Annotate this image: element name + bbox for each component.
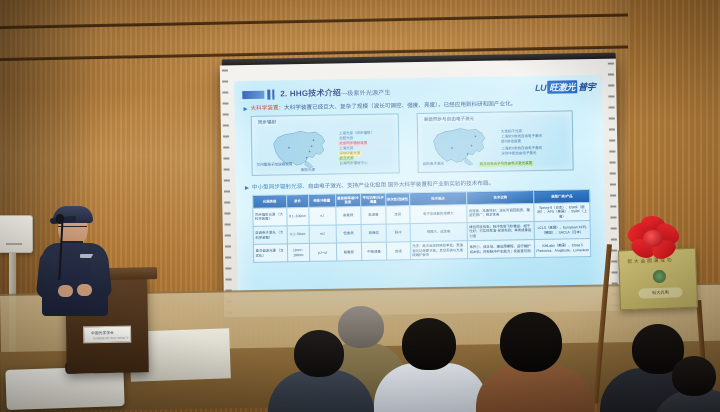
plaque-name-text: 科大光电 bbox=[638, 287, 682, 299]
map-card-synchrotron: 同步辐射 上海光源（同步辐射） 合肥光源 北京同步辐射装置 上海光源 深圳 bbox=[251, 113, 400, 176]
r1c0: 自由电子激光 （大科学装置） bbox=[253, 226, 287, 245]
slide-title-number: 2. bbox=[280, 89, 287, 98]
r0c7: 亮度高、准直性好；波长可调范围宽、覆盖范围广；稳定性高 bbox=[467, 203, 535, 222]
th-2: 单脉冲能量 bbox=[308, 194, 335, 207]
bullet-lead-1: 大科学装置： bbox=[251, 105, 285, 112]
map1-footnote-bottom: 高能光源 bbox=[301, 168, 315, 173]
r1c2: mJ bbox=[309, 225, 336, 244]
wall-mounted-unit bbox=[0, 215, 33, 253]
speaker-arm-right bbox=[90, 251, 113, 299]
ribbon-center bbox=[643, 230, 663, 247]
map1-label-6: 台湾同步辐射中心 bbox=[339, 161, 369, 167]
r0c0: 同步辐射光源 （大科学装置） bbox=[253, 208, 287, 227]
r0c2: nJ bbox=[308, 207, 335, 226]
audience-member-long-hair bbox=[480, 312, 586, 412]
audience-member-front-left bbox=[272, 330, 368, 412]
slide-title-main: HHG技术介绍 bbox=[290, 88, 341, 98]
r2c5: 连续 bbox=[386, 242, 410, 261]
th-5: 单次性/连续性 bbox=[386, 193, 410, 206]
bullet-item-2: 中小型同步辐射光源、自由电子激光、支持产业化投用 国外大科学装置和产业新实验的技… bbox=[245, 180, 494, 192]
slide-title-row: 2. HHG技术介绍—极紫外光源产生 bbox=[242, 86, 390, 100]
th-3: 重复频率/脉冲宽度 bbox=[335, 194, 360, 207]
map1-footnote-left: 兰州重离子加速器装置 bbox=[257, 162, 293, 168]
r0c3: 高重频 bbox=[335, 206, 361, 225]
th-8: 典型厂商/产品 bbox=[534, 190, 590, 204]
red-ribbon-flower bbox=[625, 214, 683, 266]
r2c3: 高重频 bbox=[336, 243, 362, 262]
r2c2: pJ~nJ bbox=[309, 243, 336, 262]
r2c4: 中等通量 bbox=[361, 242, 387, 261]
r0c5: 连续 bbox=[386, 205, 410, 224]
th-1: 波长 bbox=[286, 194, 308, 207]
microphone-head bbox=[56, 214, 64, 224]
map-card-title-1: 同步辐射 bbox=[257, 119, 277, 125]
map2-label-5: 武汉光谷光子号自由电子激光装置 bbox=[479, 161, 534, 167]
audience-head bbox=[294, 330, 344, 377]
bullet-triangle-icon bbox=[244, 107, 248, 111]
bullet-body-2: 自由电子激光、支持产业化投用 国外大科学装置和产业新实验的技术布局。 bbox=[308, 181, 494, 190]
audience-member-far-right bbox=[660, 356, 720, 412]
map-card-fel: 高能同步与自由电子激光 大连相干光源 上海软X射线自由电子激光 硬X射线装置 上… bbox=[417, 110, 574, 173]
light-source-comparison-table: 光源类型 波长 单脉冲能量 重复频率/脉冲宽度 平均功率/光子通量 单次性/连续… bbox=[252, 189, 591, 263]
audience-head bbox=[402, 318, 456, 370]
r0c4: 高通量 bbox=[361, 206, 387, 225]
screen-eyelets-left bbox=[222, 69, 232, 317]
audience-head bbox=[500, 312, 562, 372]
podium-sign-subtitle: CHINESE OPTICAL SOCIETY bbox=[93, 337, 128, 341]
speaker bbox=[36, 196, 120, 316]
presentation-slide: 2. HHG技术介绍—极紫外光源产生 LU 旺激光 普宇 大科学装置：大科学装置… bbox=[234, 75, 606, 307]
th-7: 技术优势 bbox=[466, 191, 534, 205]
th-0: 光源类型 bbox=[253, 195, 287, 208]
brand-logo-part3: 普宇 bbox=[578, 80, 595, 93]
brand-logo-part1: LU bbox=[535, 82, 546, 92]
r1c7: 峰值亮度极高；脉冲宽度飞秒量级、相干性好；可实现泵浦-探测实验；单发成像能力强 bbox=[467, 221, 535, 240]
r1c3: 低重频 bbox=[336, 224, 362, 243]
screen-surface: 2. HHG技术介绍—极紫外光源产生 LU 旺激光 普宇 大科学装置：大科学装置… bbox=[220, 59, 620, 318]
r2c1: 10nm~ 100nm bbox=[287, 244, 309, 263]
slide-title-sub: —极紫外光源产生 bbox=[341, 90, 391, 97]
r2c7: 体积小、成本低、建设周期短、运行维护成本低；阿秒脉冲产生能力；实验室可用 bbox=[467, 240, 535, 259]
plaque-seal-icon bbox=[653, 270, 666, 283]
podium-sign-title: 中国光学学会 bbox=[91, 331, 114, 336]
map2-label-4: 深圳中能自由电子激光 bbox=[500, 151, 537, 157]
speaker-hand-right bbox=[77, 284, 92, 296]
th-6: 技术难点 bbox=[409, 192, 467, 206]
r2c8: KMLabs（美国）、Class 5 Photonics、Amplitude、L… bbox=[535, 239, 591, 258]
r1c8: LCLS（美国）、European XFEL（德国）、SACLA（日本） bbox=[534, 220, 590, 239]
title-accent-bars bbox=[267, 89, 274, 99]
map2-label-2: 硬X射线装置 bbox=[500, 139, 522, 145]
speaker-hand-left bbox=[58, 285, 73, 297]
bullet-text-2: 中小型同步辐射光源、自由电子激光、支持产业化投用 国外大科学装置和产业新实验的技… bbox=[252, 180, 494, 192]
podium-sign: 中国光学学会 CHINESE OPTICAL SOCIETY bbox=[83, 326, 131, 344]
audience-shoulders bbox=[476, 365, 594, 412]
r1c4: 高峰值 bbox=[361, 224, 387, 243]
map-card-title-2: 高能同步与自由电子激光 bbox=[423, 116, 476, 123]
r0c1: 0.1~100nm bbox=[286, 207, 308, 226]
projection-screen: 2. HHG技术介绍—极紫外光源产生 LU 旺激光 普宇 大科学装置：大科学装置… bbox=[220, 57, 620, 322]
slide-title: 2. HHG技术介绍—极紫外光源产生 bbox=[280, 86, 390, 99]
r1c1: 0.1~50nm bbox=[287, 225, 309, 244]
audience-head bbox=[672, 356, 716, 396]
r2c0: 高次谐波光源 （台式化） bbox=[253, 244, 287, 263]
r1c5: 脉冲 bbox=[386, 224, 410, 243]
bullet-body-1: 大科学装置已经巨大、复杂了规模（波长可调控、强度、亮度），已经应用到科研和国产业… bbox=[284, 101, 516, 111]
r0c6: 电子加速器的规模大 bbox=[409, 204, 467, 223]
bullet-lead-2: 中小型同步辐射光源、 bbox=[252, 184, 308, 191]
th-4: 平均功率/光子通量 bbox=[360, 193, 385, 206]
audience-member-white-shirt bbox=[380, 318, 480, 412]
brand-logo-part2: 旺激光 bbox=[547, 80, 577, 94]
bullet-triangle-icon-2 bbox=[245, 186, 249, 190]
title-accent-block bbox=[242, 90, 264, 98]
conference-room-photo: 2. HHG技术介绍—极紫外光源产生 LU 旺激光 普宇 大科学装置：大科学装置… bbox=[0, 0, 720, 412]
audience-shoulders bbox=[374, 363, 488, 412]
brand-logo: LU 旺激光 普宇 bbox=[535, 80, 595, 94]
wall-unit-vent bbox=[6, 243, 22, 245]
r0c8: Spring-8（日本）、ESRF（欧洲）、APS（美国）、SSRF（上海） bbox=[534, 202, 590, 221]
r2c6: 光学：高次谐波转换效率低；泵浦激光功率要求高；真空系统与光束线维护复杂 bbox=[410, 241, 468, 260]
map2-footnote-left: 自由电子激光 bbox=[423, 162, 445, 167]
r1c6: 规模大、成本高 bbox=[410, 223, 468, 242]
